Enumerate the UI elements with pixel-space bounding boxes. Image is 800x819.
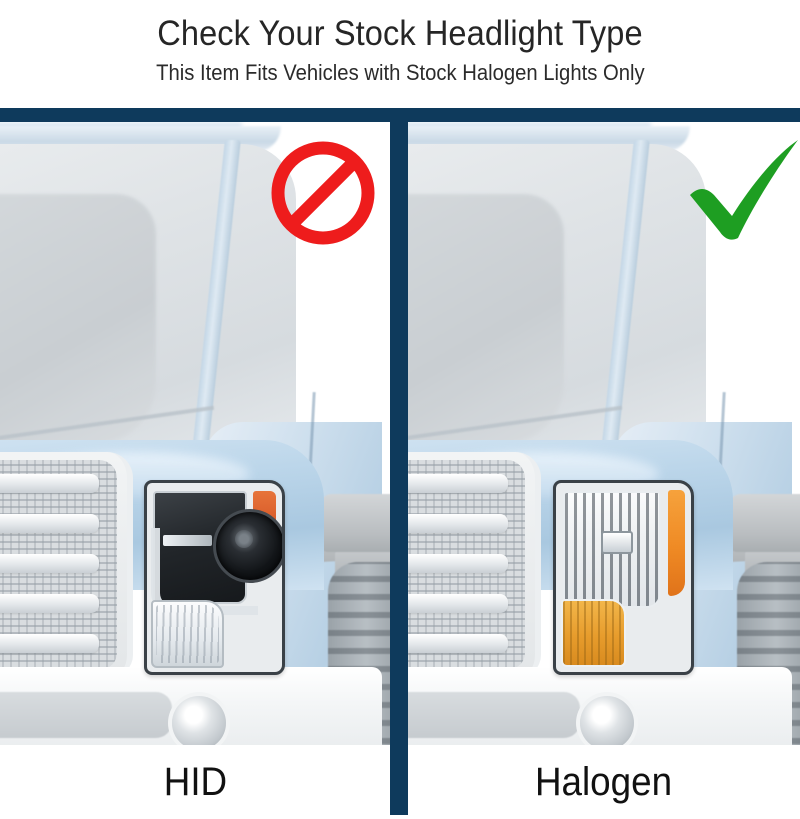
page-subtitle: This Item Fits Vehicles with Stock Halog… [156,59,644,86]
grille-bar [408,474,508,493]
panel-divider-bar [390,108,408,815]
panel-caption-hid: HID [0,745,390,819]
truck-photo-hid [0,122,390,745]
fog-light [172,696,226,745]
front-grille [408,452,541,677]
side-mirror [729,494,800,552]
side-mirror [320,494,390,552]
grille-bar [408,634,508,653]
windshield-interior [0,194,156,444]
prohibition-icon [268,138,378,248]
caption-label: Halogen [535,760,672,804]
checkmark-icon [684,138,800,242]
headlight-assembly-halogen [553,480,694,675]
panel-halogen: Halogen [408,122,800,819]
grille-bar [0,554,99,573]
side-marker-lens [668,490,686,596]
bumper-recess [0,692,172,738]
headlight-housing [144,480,284,675]
halogen-reflector-chamber [563,491,661,608]
grille-bar [0,634,99,653]
windshield-interior [408,194,564,444]
caption-label: HID [163,760,226,804]
front-grille [0,452,133,677]
panel-hid: HID [0,122,390,819]
bumper-recess [408,692,580,738]
grille-bar [408,514,508,533]
grille-bar [408,554,508,573]
grille-bar [0,514,99,533]
lower-turn-lens-clear [151,600,224,668]
grille-bar [0,594,99,613]
grille-bar [0,474,99,493]
fog-light [580,696,634,745]
truck-photo-halogen [408,122,800,745]
headlight-housing [553,480,694,675]
header: Check Your Stock Headlight Type This Ite… [0,0,800,108]
panel-caption-halogen: Halogen [408,745,800,819]
headlight-assembly-hid [144,480,284,675]
grille-bar [408,594,508,613]
page-title: Check Your Stock Headlight Type [157,14,642,54]
headlight-comparison-graphic: Check Your Stock Headlight Type This Ite… [0,0,800,819]
amber-turn-signal-lens [561,599,626,667]
